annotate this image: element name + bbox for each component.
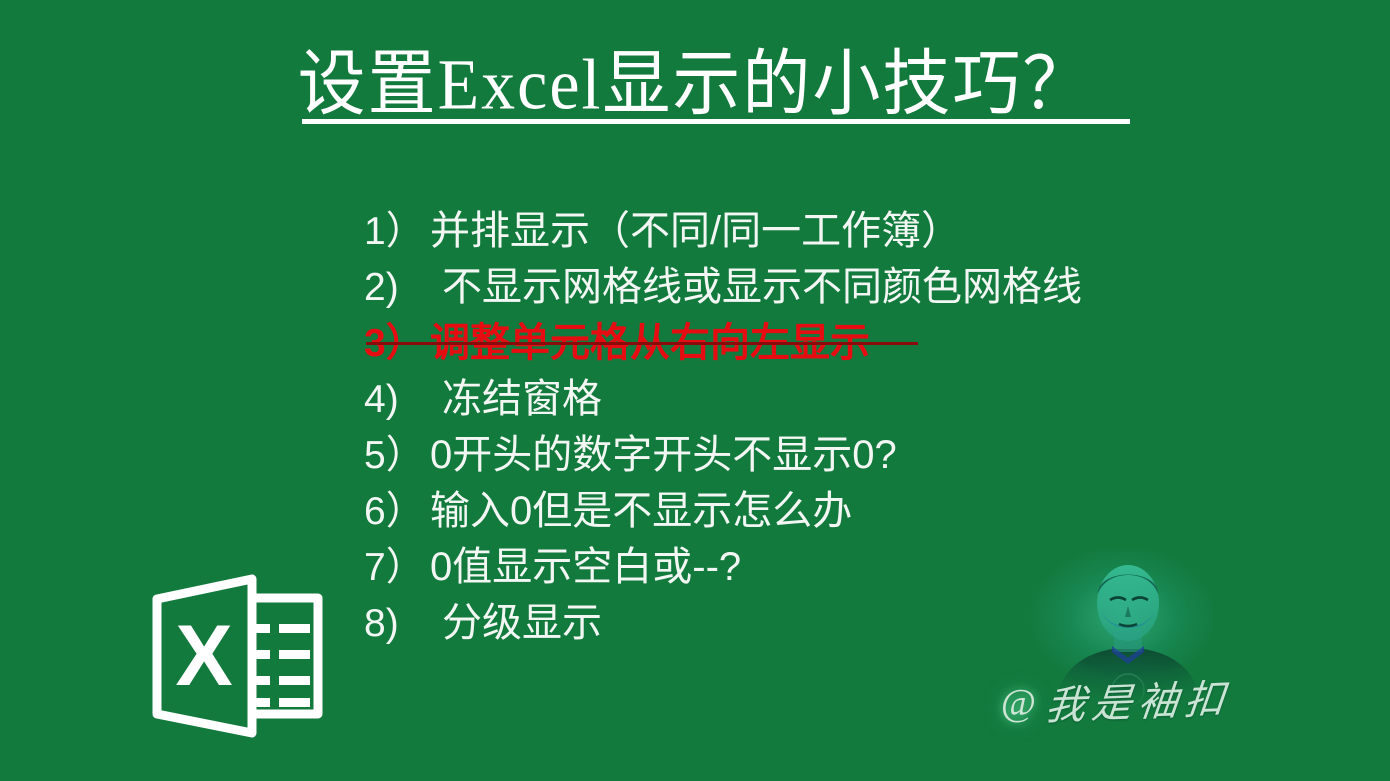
list-item-struck: 3） 调整单元格从右向左显示 (364, 315, 1264, 371)
list-item-number: 1） (364, 204, 430, 260)
tips-list: 1） 并排显示（不同/同一工作簿） 2) 不显示网格线或显示不同颜色网格线 3）… (364, 203, 1264, 651)
list-item-label: 分级显示 (442, 595, 602, 651)
list-item-label: 冻结窗格 (442, 371, 602, 427)
list-item-number: 2) (364, 260, 442, 316)
author-name: 我是袖扣 (1044, 679, 1233, 726)
strikethrough-line (366, 342, 918, 345)
slide-canvas: 设置Excel显示的小技巧？ 1） 并排显示（不同/同一工作簿） 2) 不显示网… (0, 0, 1390, 781)
at-symbol: @ (1001, 684, 1036, 722)
list-item: 6） 输入0但是不显示怎么办 (364, 483, 1264, 539)
list-item-number: 4) (364, 372, 442, 428)
slide-title-inner: 设置Excel显示的小技巧？ (298, 48, 1093, 126)
list-item: 5） 0开头的数字开头不显示0? (364, 427, 1264, 483)
excel-logo: X (148, 572, 336, 740)
list-item-number: 7） (364, 540, 430, 596)
list-item-label: 不显示网格线或显示不同颜色网格线 (442, 259, 1082, 315)
list-item-label: 并排显示（不同/同一工作簿） (430, 203, 961, 259)
list-item-label: 0值显示空白或--? (430, 539, 741, 595)
excel-logo-grid-rows (248, 624, 310, 707)
list-item: 1） 并排显示（不同/同一工作簿） (364, 203, 1264, 259)
list-item-number: 6） (364, 484, 430, 540)
list-item: 4) 冻结窗格 (364, 371, 1264, 427)
title-underline (302, 119, 1130, 124)
list-item: 7） 0值显示空白或--? (364, 539, 1264, 595)
list-item-label: 输入0但是不显示怎么办 (430, 483, 852, 539)
list-item: 8) 分级显示 (364, 595, 1264, 651)
slide-title-block: 设置Excel显示的小技巧？ (0, 48, 1390, 126)
list-item-number: 5） (364, 428, 430, 484)
page-title: 设置Excel显示的小技巧？ (298, 48, 1093, 120)
author-signature: @ 我是袖扣 (1001, 676, 1230, 730)
list-item-label: 0开头的数字开头不显示0? (430, 427, 897, 483)
list-item-number: 8) (364, 596, 442, 652)
excel-logo-letter: X (175, 608, 232, 704)
list-item: 2) 不显示网格线或显示不同颜色网格线 (364, 259, 1264, 315)
